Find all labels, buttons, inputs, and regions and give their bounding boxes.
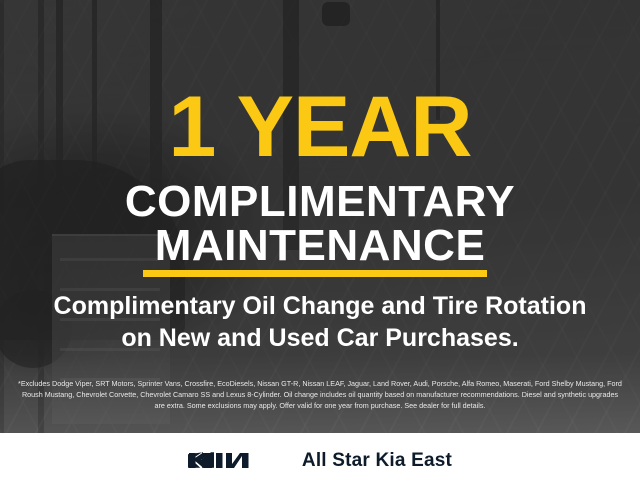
promo-banner: 1 YEAR COMPLIMENTARY MAINTENANCE Complim… bbox=[0, 0, 640, 488]
hero-content: 1 YEAR COMPLIMENTARY MAINTENANCE Complim… bbox=[0, 0, 640, 433]
yellow-divider bbox=[143, 270, 487, 277]
headline-maintenance: MAINTENANCE bbox=[0, 224, 640, 268]
tagline: Complimentary Oil Change and Tire Rotati… bbox=[0, 290, 640, 354]
hero-section: 1 YEAR COMPLIMENTARY MAINTENANCE Complim… bbox=[0, 0, 640, 433]
disclaimer-text: *Excludes Dodge Viper, SRT Motors, Sprin… bbox=[16, 378, 624, 411]
tagline-line-1: Complimentary Oil Change and Tire Rotati… bbox=[54, 292, 587, 320]
headline-complimentary: COMPLIMENTARY bbox=[0, 180, 640, 224]
tagline-line-2: on New and Used Car Purchases. bbox=[0, 322, 640, 354]
kia-logo bbox=[188, 448, 280, 474]
footer: All Star Kia East bbox=[0, 433, 640, 488]
headline-year: 1 YEAR bbox=[0, 84, 640, 170]
dealer-name: All Star Kia East bbox=[302, 450, 452, 472]
